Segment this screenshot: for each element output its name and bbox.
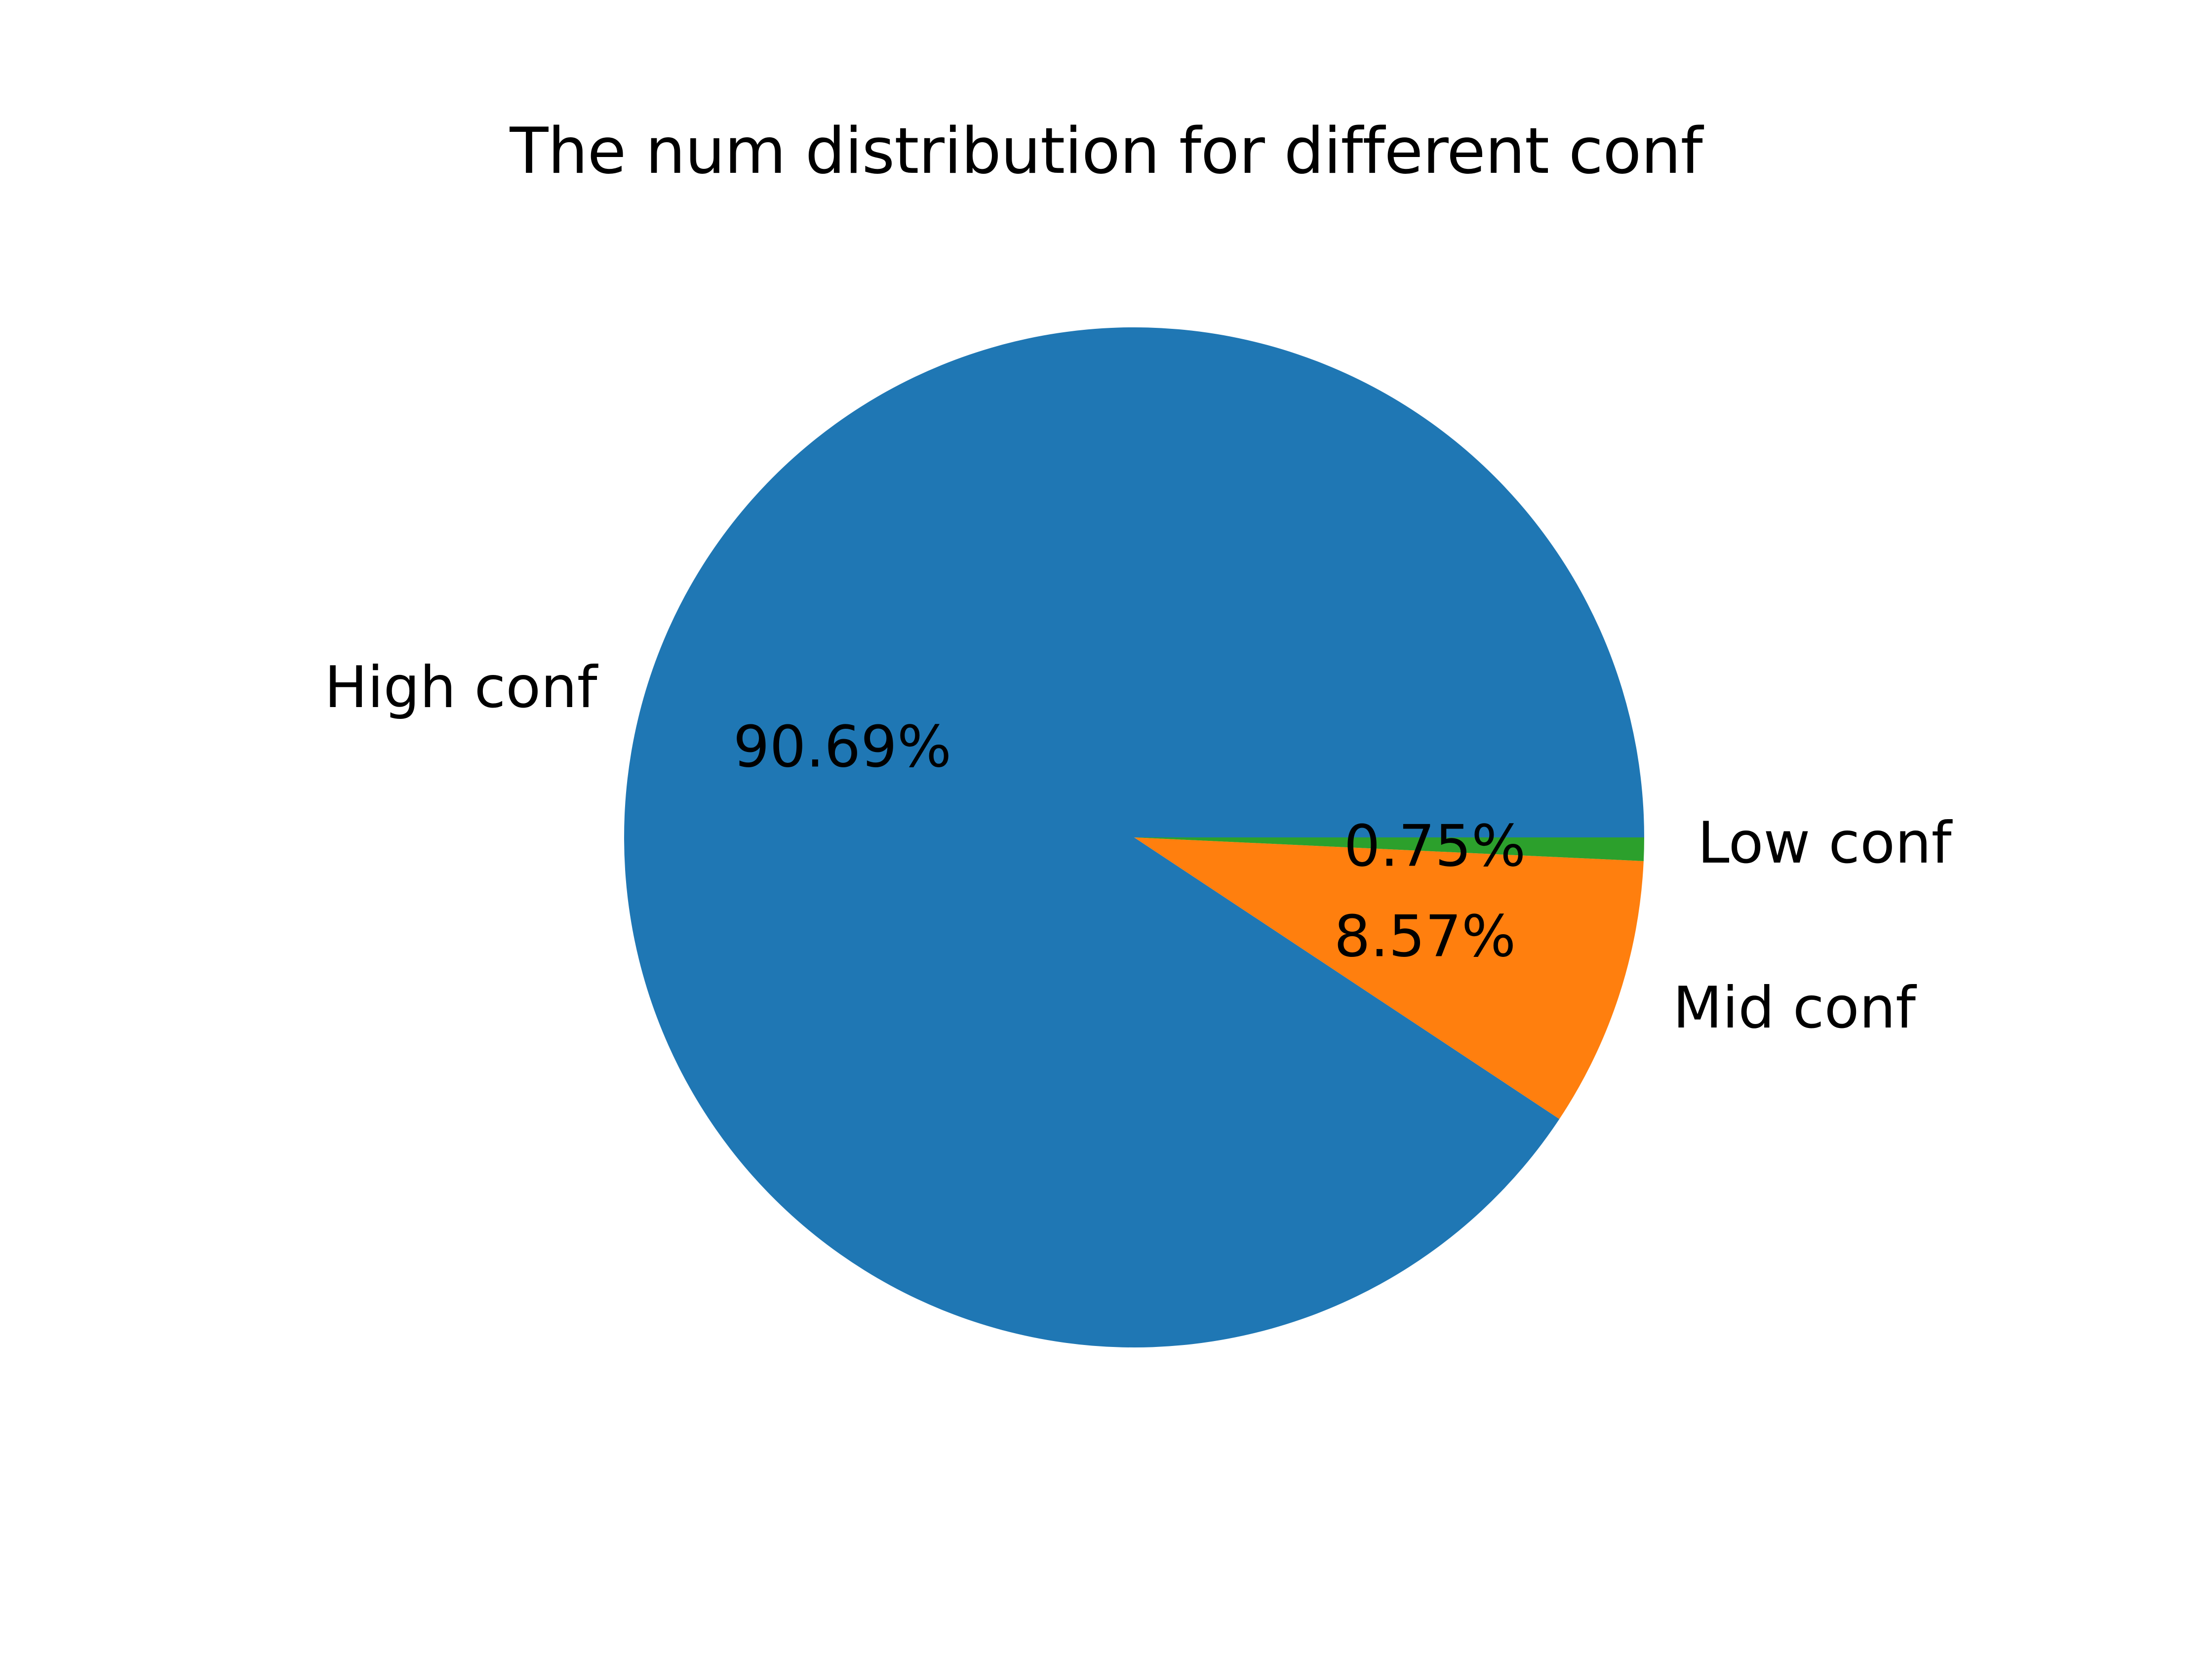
pie-label-low-conf: Low conf: [1698, 810, 1951, 876]
pie-chart: High conf Low conf Mid conf 90.69% 0.75%…: [0, 0, 2212, 1659]
figure-canvas: The num distribution for different conf …: [0, 0, 2212, 1659]
pie-label-high-conf: High conf: [324, 654, 597, 721]
pie-label-mid-conf: Mid conf: [1673, 975, 1916, 1041]
pie-percent-mid-conf: 8.57%: [1334, 904, 1516, 970]
pie-percent-low-conf: 0.75%: [1344, 813, 1526, 880]
pie-percent-high-conf: 90.69%: [733, 714, 951, 781]
